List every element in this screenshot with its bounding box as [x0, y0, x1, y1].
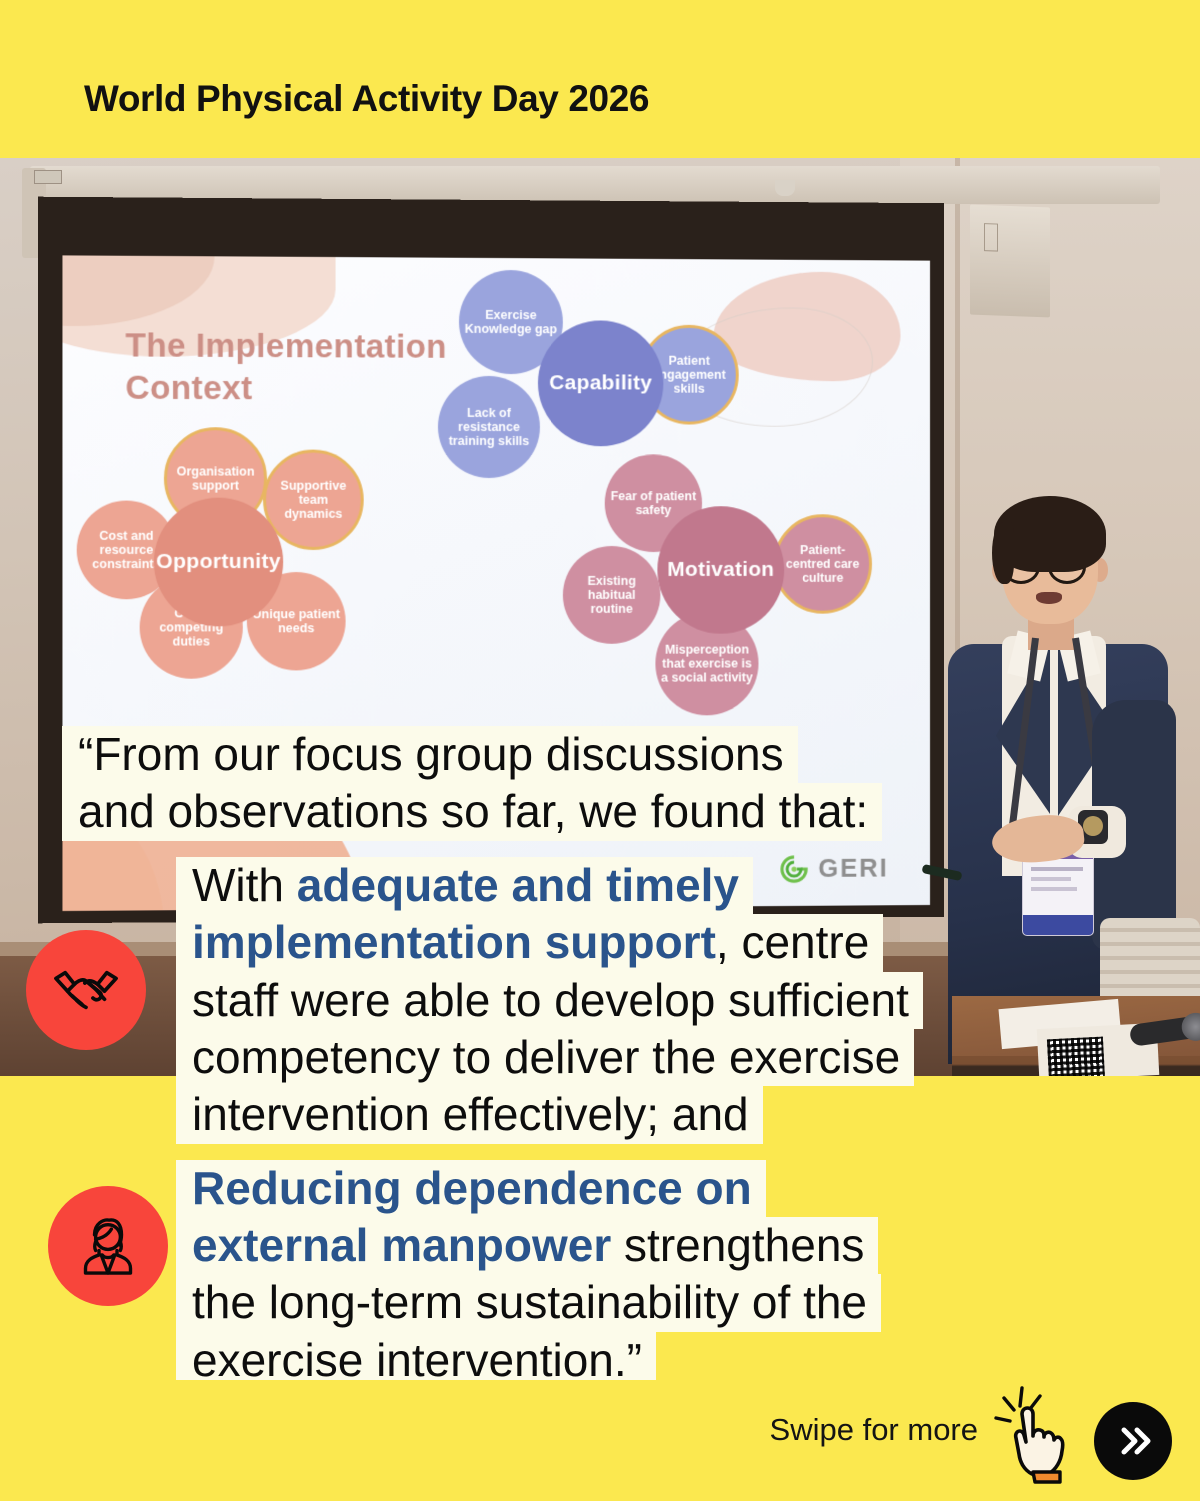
bubble-label: Supportive team dynamics: [270, 479, 357, 521]
swipe-label: Swipe for more: [770, 1412, 978, 1448]
page-footer: Swipe for more: [0, 1380, 1200, 1500]
person-glyph: [72, 1210, 144, 1282]
person-icon: [48, 1186, 168, 1306]
bubble-core-motivation: Motivation: [657, 506, 784, 634]
point2-highlight: Reducing dependence on: [192, 1162, 752, 1214]
point1-line-3: staff were able to develop sufficient: [176, 972, 923, 1029]
point2-line-2: external manpower strengthens: [176, 1217, 878, 1274]
bubble-core-capability: Capability: [538, 320, 663, 446]
point1-plain: With: [192, 859, 297, 911]
bubble-existing-habitual-routine: Existing habitual routine: [563, 546, 661, 644]
point2-line-1: Reducing dependence on: [176, 1160, 766, 1217]
housing-knob: [775, 180, 795, 196]
speaker-hair-side: [992, 522, 1014, 584]
bubble-label: Patient-centred care culture: [780, 543, 865, 585]
wall-speaker: [970, 205, 1050, 318]
slide-title: The Implementation Context: [125, 324, 446, 410]
point1-highlight: implementation support: [192, 916, 716, 968]
bubble-core-label: Opportunity: [156, 550, 281, 574]
bubble-label: Existing habitual routine: [567, 574, 657, 616]
swipe-hand-cursor-icon: [970, 1376, 1090, 1496]
bubble-patient-centred-care-culture: Patient-centred care culture: [773, 514, 872, 613]
hand-cursor-glyph: [970, 1376, 1090, 1496]
point1-plain: , centre: [716, 916, 869, 968]
point2-line-3: the long-term sustainability of the: [176, 1274, 881, 1331]
point1-line-4: competency to deliver the exercise: [176, 1029, 914, 1086]
bubble-supportive-team-dynamics: Supportive team dynamics: [263, 449, 364, 549]
wall-switch-plate: [34, 170, 62, 184]
handshake-glyph: [49, 953, 123, 1027]
bubble-label: Misperception that exercise is a social …: [659, 643, 754, 685]
point1-highlight: adequate and timely: [297, 859, 739, 911]
page-title: World Physical Activity Day 2026: [84, 78, 649, 120]
quote-line: “From our focus group discussions: [62, 726, 798, 783]
bubble-lack-of-resistance-training-skills: Lack of resistance training skills: [438, 376, 540, 478]
bubble-label: Exercise Knowledge gap: [463, 308, 559, 336]
slide-title-line-1: The Implementation: [125, 324, 446, 368]
quote-line: and observations so far, we found that:: [62, 783, 882, 840]
quote-overlay: “From our focus group discussions and ob…: [62, 726, 1132, 1389]
point1-line-1: With adequate and timely: [176, 857, 753, 914]
speaker-mouth: [1036, 592, 1062, 604]
chevron-double-right-icon: [1111, 1419, 1155, 1463]
bubble-core-label: Capability: [549, 371, 652, 395]
slide-title-line-2: Context: [125, 367, 446, 411]
bubble-core-opportunity: Opportunity: [154, 498, 283, 627]
bubble-label: Unique patient needs: [251, 607, 342, 635]
point1-line-2: implementation support, centre: [176, 914, 883, 971]
bubble-label: Organisation support: [171, 464, 260, 492]
point1-line-5: intervention effectively; and: [176, 1086, 763, 1143]
page-header: World Physical Activity Day 2026: [0, 0, 1200, 158]
handshake-icon: [26, 930, 146, 1050]
bubble-core-label: Motivation: [667, 558, 774, 581]
bubble-label: Lack of resistance training skills: [442, 406, 536, 448]
next-slide-button[interactable]: [1094, 1402, 1172, 1480]
bubble-label: Fear of patient safety: [609, 489, 698, 517]
point2-highlight: external manpower: [192, 1219, 611, 1271]
point2-plain: strengthens: [611, 1219, 864, 1271]
